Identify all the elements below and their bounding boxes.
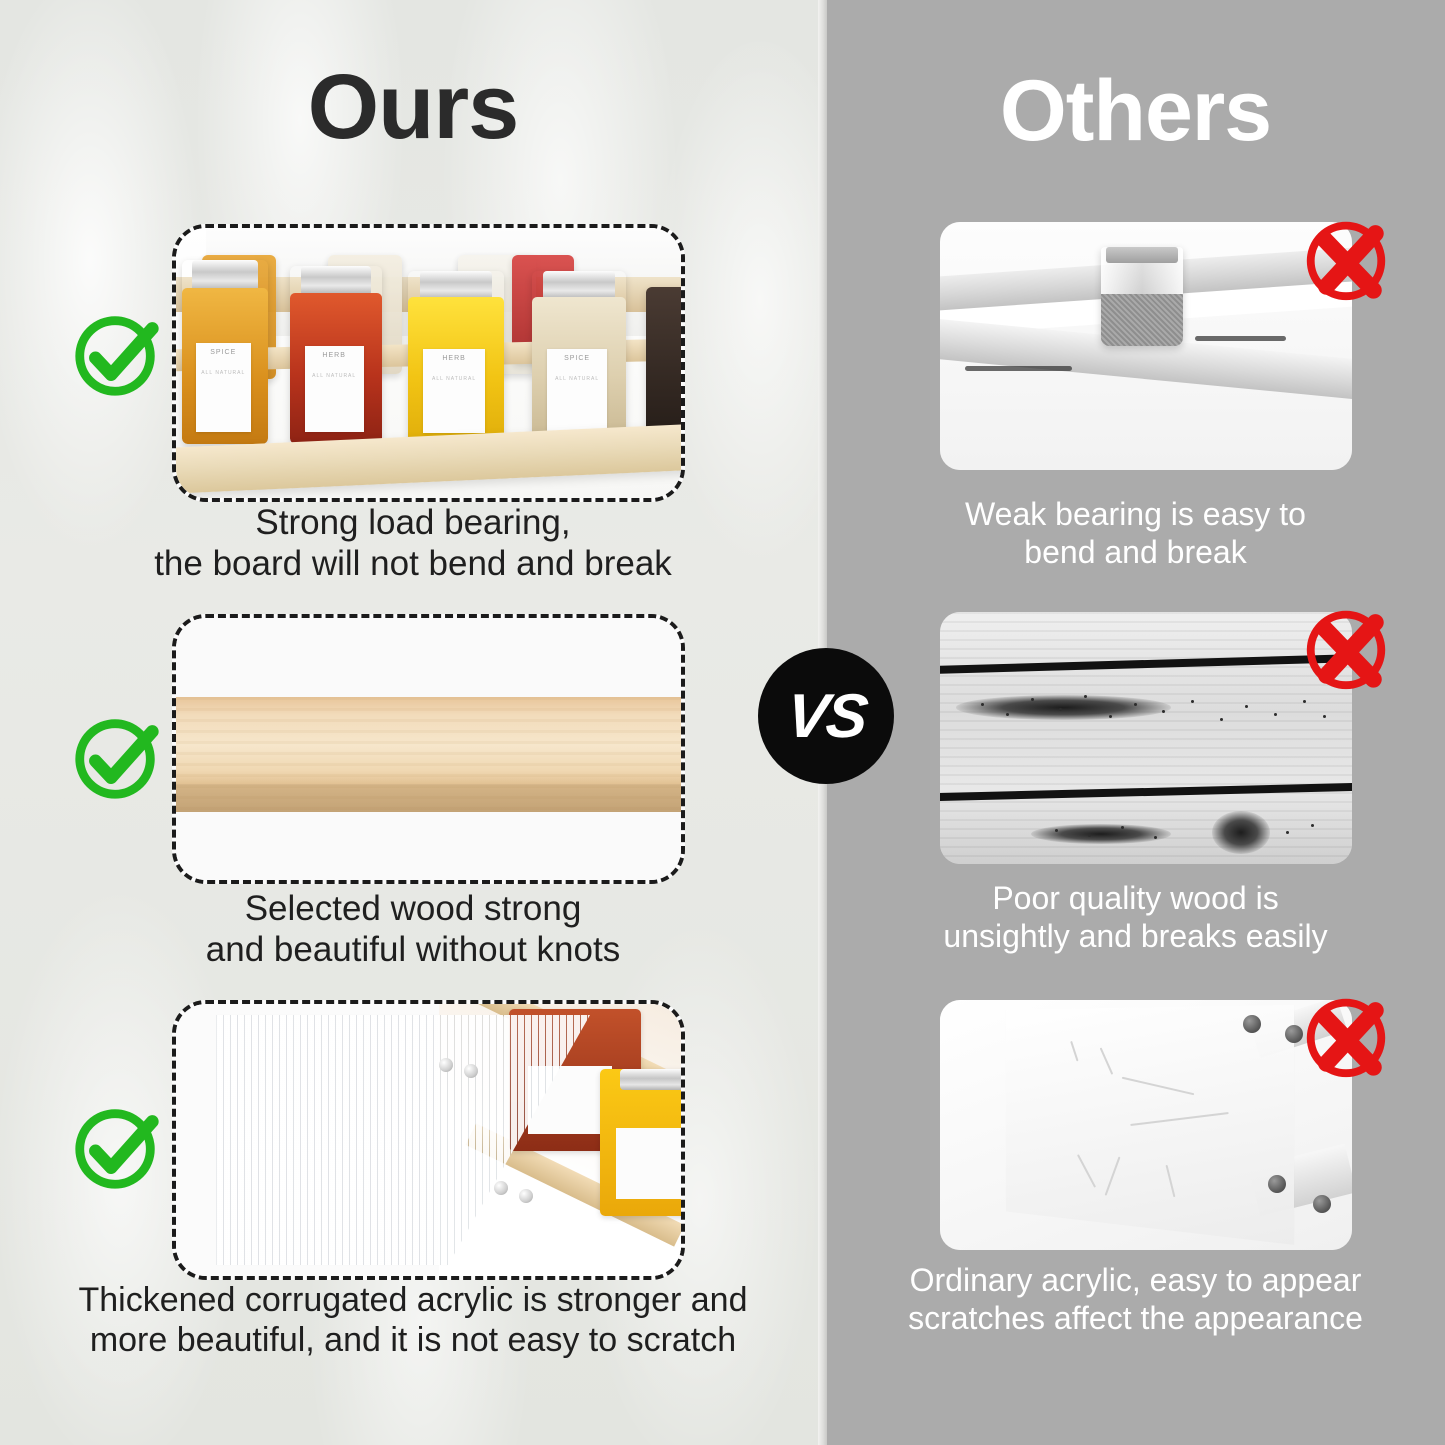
vs-badge: VS [758,648,894,784]
ours-caption-row1: Strong load bearing, the board will not … [0,502,826,585]
caption-line: bend and break [826,534,1445,572]
ours-caption-row2: Selected wood strong and beautiful witho… [0,888,826,971]
ours-title: Ours [0,55,826,160]
others-image-row2 [940,612,1352,864]
caption-line: Strong load bearing, [0,502,826,543]
jar-sublabel-text: ALL NATURAL [196,370,251,376]
red-cross-icon-row2 [1297,597,1395,695]
others-caption-row3: Ordinary acrylic, easy to appear scratch… [826,1262,1445,1338]
red-cross-icon-row1 [1297,208,1395,306]
others-caption-row2: Poor quality wood is unsightly and break… [826,880,1445,956]
green-check-icon-row3 [68,1098,166,1196]
jar-sublabel-text: ALL NATURAL [305,373,364,379]
scratched-acrylic-photo [940,1000,1352,1250]
spice-jars-photo: SPICEALL NATURAL HERBALL NATURAL HERBALL… [176,228,681,498]
jar-label-text: SPICE [564,355,590,362]
caption-line: Poor quality wood is [826,880,1445,918]
green-check-icon-row2 [68,708,166,806]
others-caption-row1: Weak bearing is easy to bend and break [826,496,1445,572]
corrugated-acrylic-photo [176,1004,681,1276]
ours-caption-row3: Thickened corrugated acrylic is stronger… [0,1280,826,1360]
caption-line: the board will not bend and break [0,543,826,584]
ours-image-row2 [172,614,685,884]
ours-image-row3 [172,1000,685,1280]
others-title: Others [826,62,1445,161]
jar-label-text: HERB [322,352,345,359]
others-image-row3 [940,1000,1352,1250]
caption-line: Thickened corrugated acrylic is stronger… [0,1280,826,1320]
jar-sublabel-text: ALL NATURAL [423,376,484,382]
jar-label-text: SPICE [210,349,236,356]
jar-sublabel-text: ALL NATURAL [547,376,607,382]
ours-image-row1: SPICEALL NATURAL HERBALL NATURAL HERBALL… [172,224,685,502]
caption-line: more beautiful, and it is not easy to sc… [0,1320,826,1360]
vs-label: VS [783,681,869,752]
red-cross-icon-row3 [1297,985,1395,1083]
caption-line: scratches affect the appearance [826,1300,1445,1338]
comparison-infographic: Ours Others SPICEALL NATURAL [0,0,1445,1445]
knotty-wood-photo [940,612,1352,864]
caption-line: Selected wood strong [0,888,826,929]
clean-wood-board-photo [176,618,681,880]
others-image-row1 [940,222,1352,470]
caption-line: Ordinary acrylic, easy to appear [826,1262,1445,1300]
jar-label-text: HERB [442,355,465,362]
green-check-icon-row1 [68,305,166,403]
bending-shelf-photo [940,222,1352,470]
caption-line: Weak bearing is easy to [826,496,1445,534]
caption-line: and beautiful without knots [0,929,826,970]
caption-line: unsightly and breaks easily [826,918,1445,956]
